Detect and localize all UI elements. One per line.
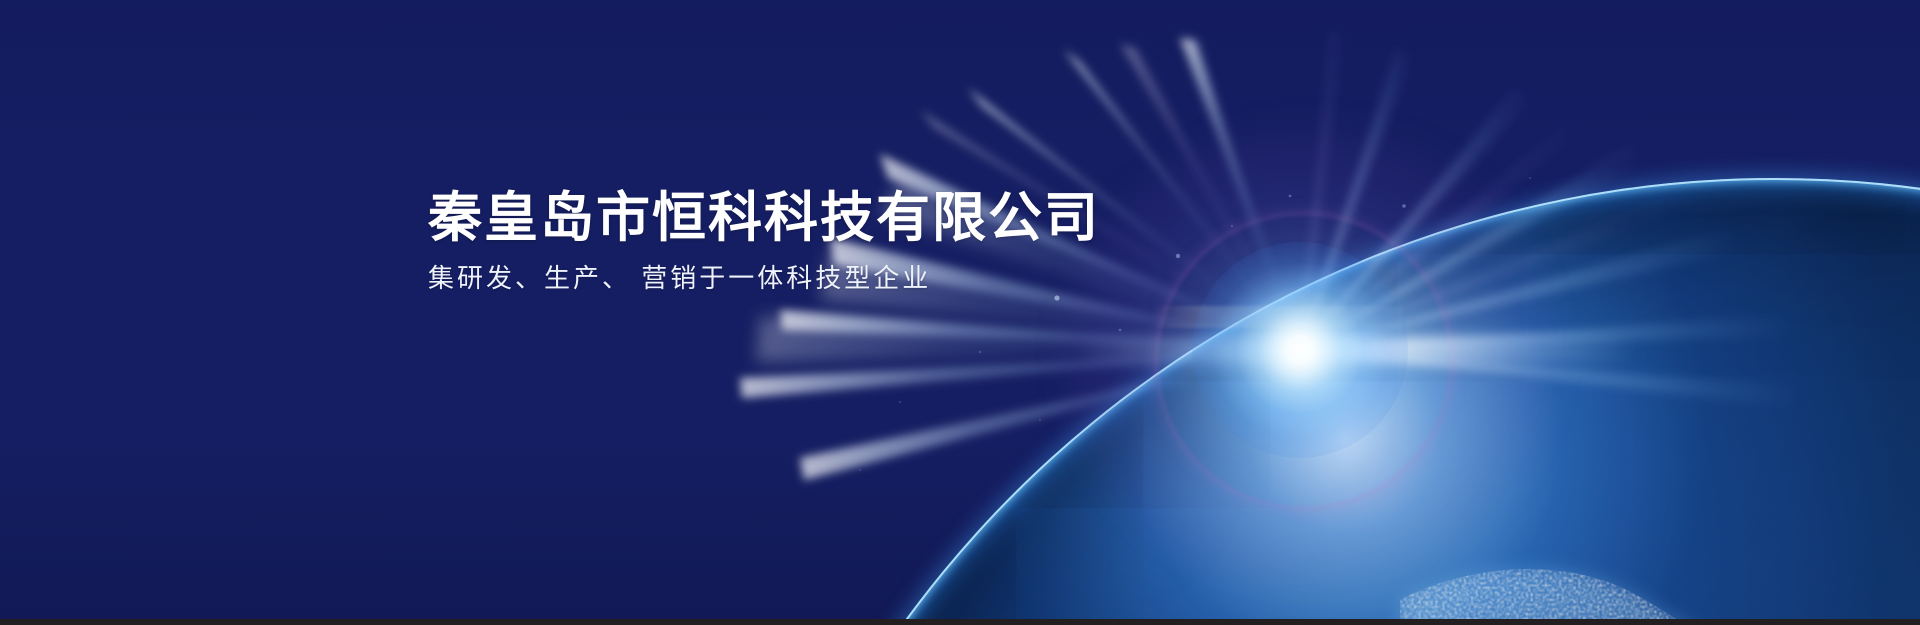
- hero-banner: 秦皇岛市恒科科技有限公司 集研发、生产、 营销于一体科技型企业: [0, 0, 1920, 625]
- company-tagline: 集研发、生产、 营销于一体科技型企业: [428, 260, 1100, 296]
- banner-text-block: 秦皇岛市恒科科技有限公司 集研发、生产、 营销于一体科技型企业: [428, 186, 1100, 296]
- company-title: 秦皇岛市恒科科技有限公司: [428, 186, 1100, 250]
- bottom-letterbox-strip: [0, 619, 1920, 625]
- earth-globe: [0, 0, 1920, 625]
